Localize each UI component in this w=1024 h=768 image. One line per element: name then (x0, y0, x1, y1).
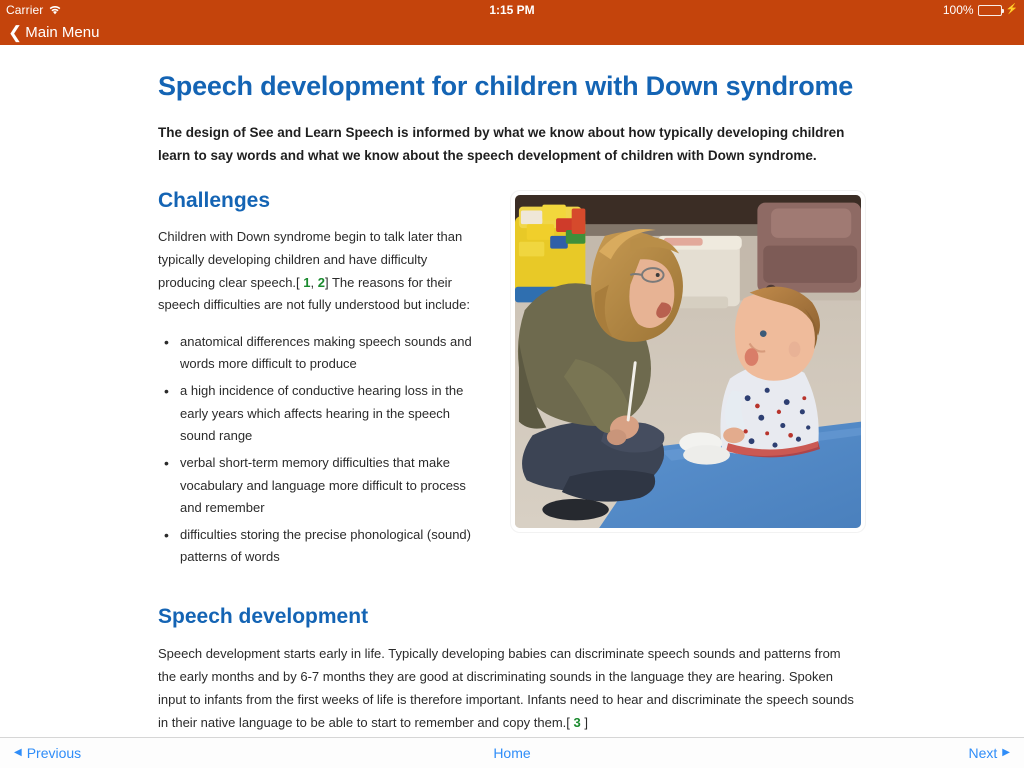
speech-development-heading: Speech development (158, 605, 866, 629)
toolbar-right: Next ▶ (969, 746, 1011, 760)
next-button[interactable]: Next ▶ (969, 746, 1011, 760)
article-scroll-area[interactable]: Speech development for children with Dow… (0, 45, 1024, 737)
speech-development-text-end: ] (581, 715, 588, 730)
speech-development-paragraph: Speech development starts early in life.… (158, 642, 858, 735)
challenges-bullet-list: anatomical differences making speech sou… (158, 331, 480, 569)
challenges-text-column: Challenges Children with Down syndrome b… (158, 189, 480, 569)
speech-development-text: Speech development starts early in life.… (158, 646, 854, 730)
app-window: Carrier 1:15 PM 100% ⚡ ❮ Main Menu (0, 0, 1024, 768)
next-button-label: Next (969, 746, 998, 760)
back-to-main-menu-button[interactable]: ❮ Main Menu (8, 25, 99, 41)
list-item: verbal short-term memory difficulties th… (158, 452, 480, 520)
navigation-bar: ❮ Main Menu (0, 20, 1024, 45)
status-bar-right: 100% ⚡ (943, 3, 1018, 17)
list-item: difficulties storing the precise phonolo… (158, 524, 480, 569)
toolbar-center: Home (0, 746, 1024, 760)
chevron-left-icon: ❮ (8, 24, 22, 41)
back-button-label: Main Menu (25, 25, 99, 40)
home-button-label: Home (493, 746, 530, 760)
reference-link-2[interactable]: 2 (318, 275, 325, 290)
battery-percent-label: 100% (943, 3, 974, 17)
challenges-intro-paragraph: Children with Down syndrome begin to tal… (158, 226, 480, 316)
home-button[interactable]: Home (493, 746, 530, 760)
article-page: Speech development for children with Dow… (0, 45, 1024, 734)
list-item: a high incidence of conductive hearing l… (158, 380, 480, 448)
wifi-icon (48, 5, 62, 16)
reference-separator: , (311, 275, 318, 290)
speech-development-section: Speech development Speech development st… (158, 605, 866, 735)
challenges-heading: Challenges (158, 189, 480, 213)
triangle-right-icon: ▶ (1002, 748, 1010, 758)
bottom-toolbar: ◀ Previous Home Next ▶ (0, 737, 1024, 768)
carrier-label: Carrier (6, 3, 43, 17)
status-bar: Carrier 1:15 PM 100% ⚡ (0, 0, 1024, 20)
article-lede: The design of See and Learn Speech is in… (158, 121, 858, 167)
article-photo (511, 191, 865, 532)
battery-icon (978, 5, 1002, 16)
reference-link-1[interactable]: 1 (303, 275, 310, 290)
status-bar-left: Carrier (6, 3, 62, 17)
page-title: Speech development for children with Dow… (158, 71, 866, 102)
lightning-bolt-icon: ⚡ (1006, 5, 1018, 15)
clock-label: 1:15 PM (0, 3, 1024, 17)
list-item: anatomical differences making speech sou… (158, 331, 480, 376)
reference-link-3[interactable]: 3 (574, 715, 581, 730)
challenges-section: Challenges Children with Down syndrome b… (158, 189, 866, 569)
